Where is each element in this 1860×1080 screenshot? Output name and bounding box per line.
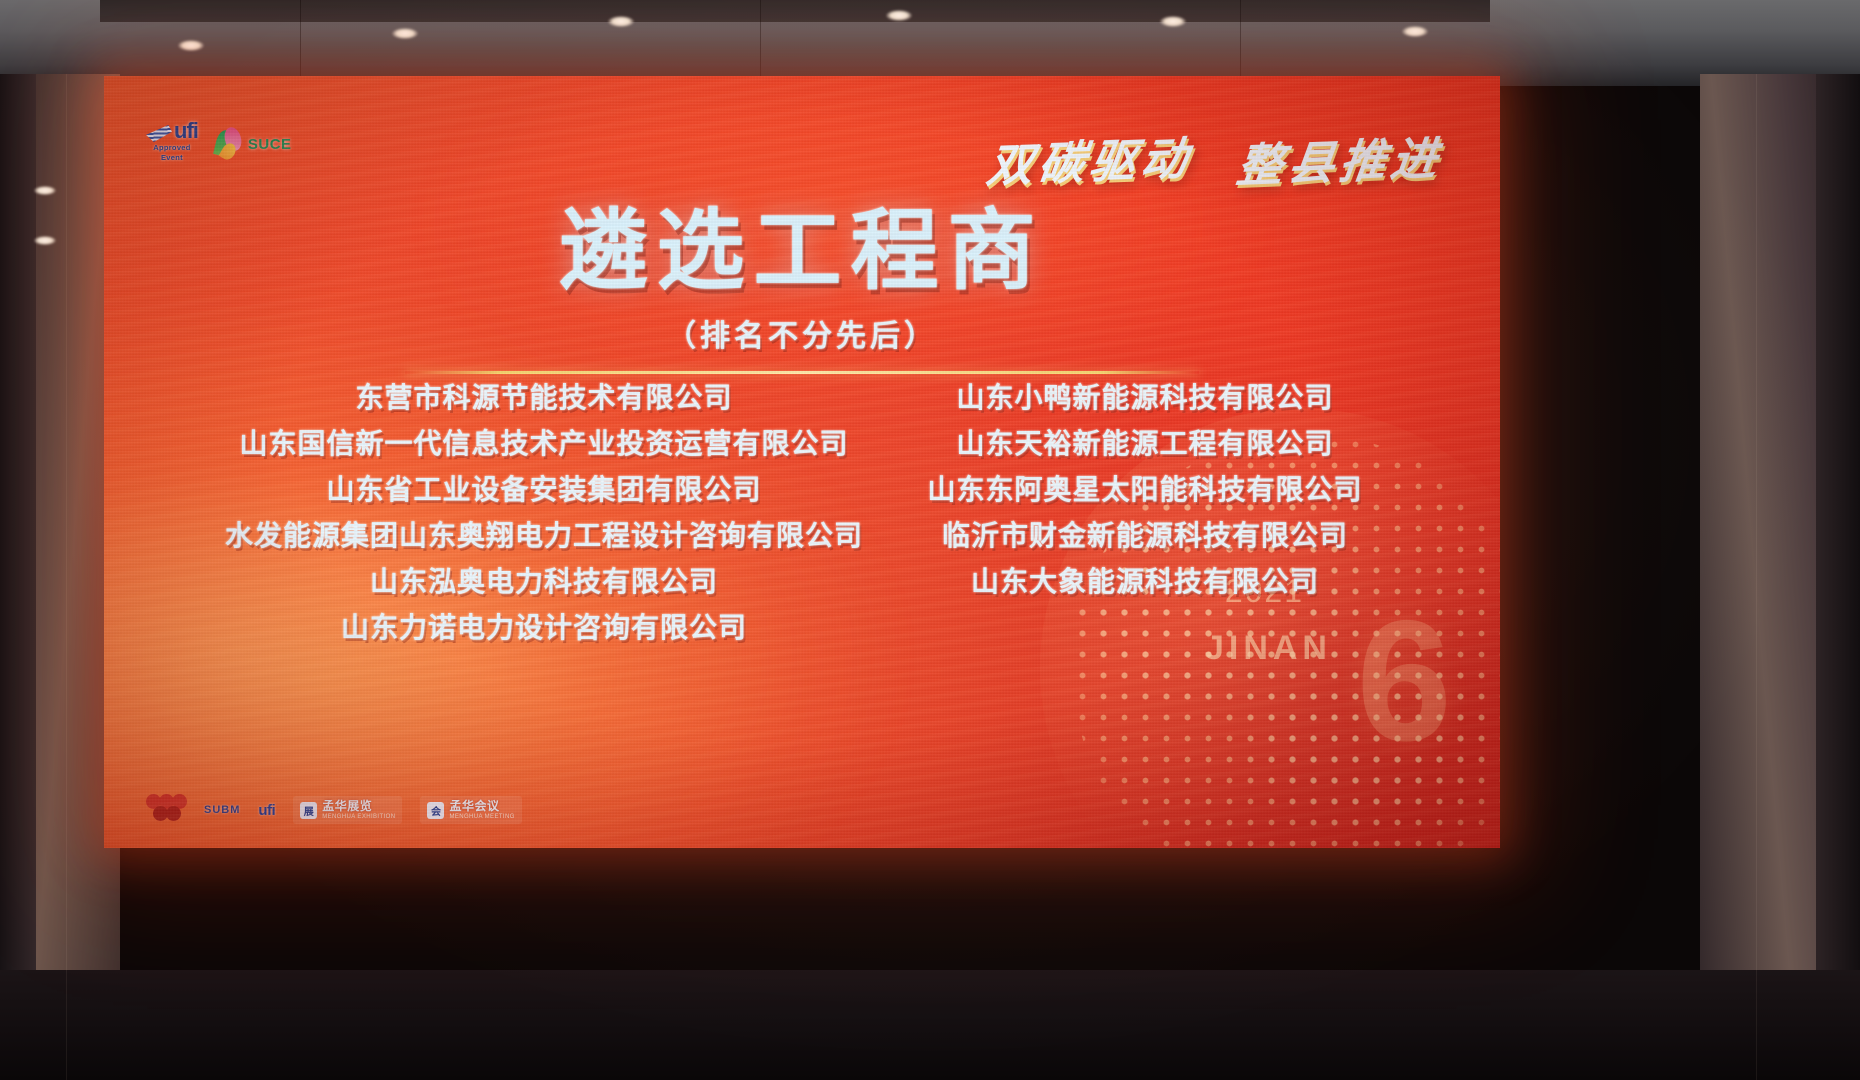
photo-scene: 6 2021 JINAN 双碳驱动 整县推进 ufi Approved Even… [0, 0, 1860, 1080]
sponsor-badge-icon: 会 [427, 802, 444, 819]
slogan: 双碳驱动 整县推进 [988, 126, 1442, 192]
ceiling-seam [760, 0, 761, 86]
slogan-right: 整县推进 [1233, 122, 1446, 196]
sponsor-name-en: MENGHUA MEETING [449, 814, 514, 822]
ceiling-light [1402, 26, 1428, 37]
ufi-approved-line1: Approved [153, 144, 190, 152]
company-column-left: 东营市科源节能技术有限公司 山东国信新一代信息技术产业投资运营有限公司 山东省工… [224, 376, 864, 646]
slogan-left: 双碳驱动 [983, 122, 1196, 196]
subm-wordmark: SUBM [204, 804, 240, 816]
sponsor-ufi-wordmark: ufi [258, 802, 275, 819]
page-title: 遴选工程商 [104, 204, 1500, 297]
sponsor-name-en: MENGHUA EXHIBITION [322, 814, 395, 822]
list-item: 山东小鸭新能源科技有限公司 [956, 376, 1333, 416]
list-item: 东营市科源节能技术有限公司 [355, 376, 732, 416]
page-subtitle: （排名不分先后） [104, 311, 1500, 355]
gold-divider [405, 371, 1199, 374]
right-wall-trim [1816, 74, 1860, 1080]
ufi-mark: ufi [146, 120, 198, 142]
list-item: 山东省工业设备安装集团有限公司 [326, 468, 761, 508]
ceiling-seam [1240, 0, 1241, 86]
list-item: 山东泓奥电力科技有限公司 [370, 560, 718, 600]
sponsor-badge-icon: 展 [300, 802, 317, 819]
wall-seam [66, 74, 67, 1080]
list-item: 山东力诺电力设计咨询有限公司 [341, 606, 747, 646]
ceiling-light [178, 40, 204, 51]
suce-logo: SUCE [214, 127, 292, 161]
list-item: 山东天裕新能源工程有限公司 [956, 422, 1333, 462]
floor [0, 970, 1860, 1080]
sponsor-name-cn: 孟华会议 [449, 799, 514, 814]
ufi-logo: ufi Approved Event [146, 120, 198, 161]
wall-downlight [34, 236, 56, 245]
sponsor-card: 会 孟华会议 MENGHUA MEETING [420, 796, 521, 825]
accreditation-logos: ufi Approved Event SUCE [146, 120, 292, 161]
suce-wordmark: SUCE [248, 136, 292, 153]
sponsor-name-stack: 孟华会议 MENGHUA MEETING [449, 799, 514, 822]
sponsor-name-cn: 孟华展览 [322, 799, 395, 814]
list-item: 山东国信新一代信息技术产业投资运营有限公司 [239, 422, 848, 462]
list-item: 水发能源集团山东奥翔电力工程设计咨询有限公司 [225, 514, 863, 554]
ceiling-light [886, 10, 912, 21]
list-item: 临沂市财金新能源科技有限公司 [942, 514, 1348, 554]
left-wall-trim [0, 74, 36, 1080]
company-column-right: 山东小鸭新能源科技有限公司 山东天裕新能源工程有限公司 山东东阿奥星太阳能科技有… [910, 376, 1380, 646]
ceiling-light [392, 28, 418, 39]
sponsor-strip: SUBM ufi 展 孟华展览 MENGHUA EXHIBITION 会 孟华会… [144, 794, 522, 826]
sponsor-name-stack: 孟华展览 MENGHUA EXHIBITION [322, 799, 395, 822]
list-item: 山东东阿奥星太阳能科技有限公司 [927, 468, 1362, 508]
ufi-wordmark: ufi [174, 120, 198, 142]
ufi-approved-line2: Event [161, 154, 183, 162]
ceiling-band [100, 0, 1490, 22]
subm-dots-icon [144, 794, 186, 826]
headline-block: 遴选工程商 （排名不分先后） [104, 204, 1500, 374]
wall-downlight [34, 186, 56, 195]
list-item: 山东大象能源科技有限公司 [971, 560, 1319, 600]
ceiling-seam [300, 0, 301, 86]
ceiling-light [608, 16, 634, 27]
subm-logo [144, 794, 186, 826]
company-columns: 东营市科源节能技术有限公司 山东国信新一代信息技术产业投资运营有限公司 山东省工… [104, 376, 1500, 646]
led-screen: 6 2021 JINAN 双碳驱动 整县推进 ufi Approved Even… [104, 76, 1500, 848]
suce-swirl-icon [214, 127, 244, 161]
ceiling-light [1160, 16, 1186, 27]
ufi-wing-icon [146, 125, 172, 142]
wall-seam [1756, 74, 1757, 1080]
sponsor-card: 展 孟华展览 MENGHUA EXHIBITION [293, 796, 402, 825]
